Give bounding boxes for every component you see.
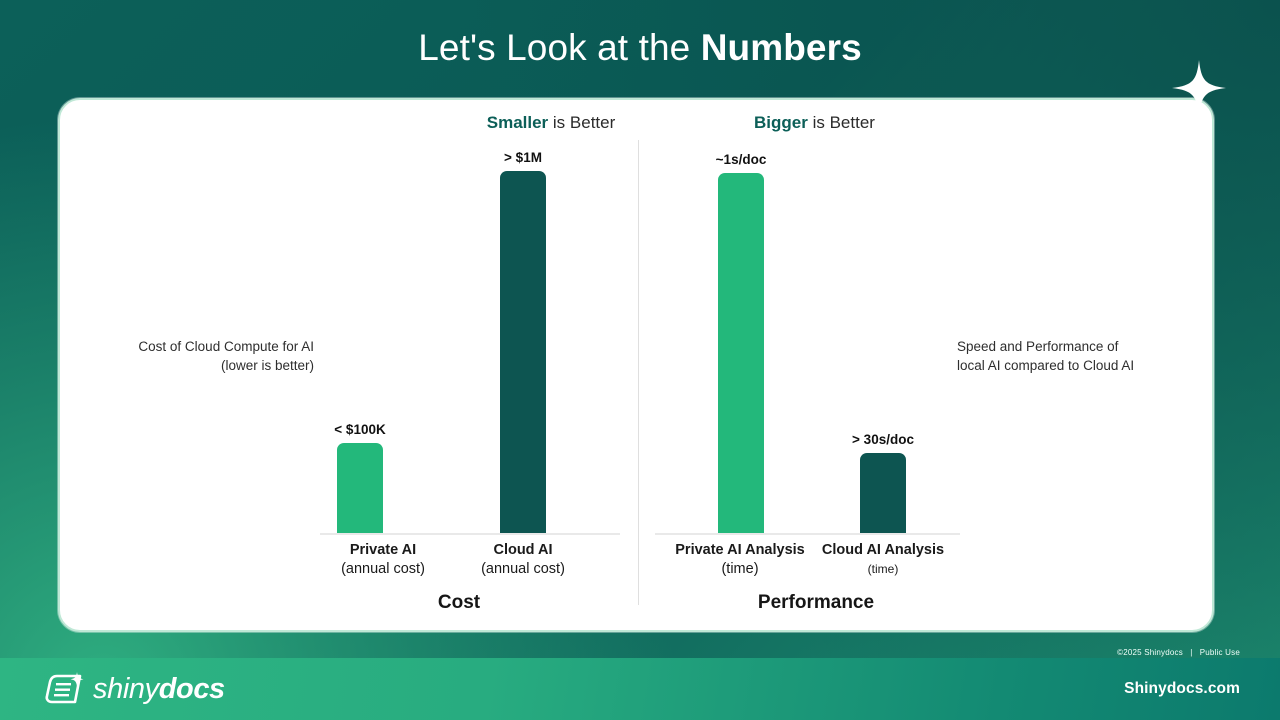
bar-rect-private-ai-cost bbox=[337, 443, 383, 533]
category-cloud-ai-cost-line1: Cloud AI bbox=[423, 541, 623, 560]
section-title-performance: Performance bbox=[716, 592, 916, 614]
category-cloud-ai-analysis-line1: Cloud AI Analysis bbox=[783, 541, 983, 560]
page-title-emphasis: Numbers bbox=[701, 27, 862, 68]
bar-value-cloud-ai-cost: > $1M bbox=[504, 150, 542, 165]
category-label-cloud-ai-cost: Cloud AI (annual cost) bbox=[423, 541, 623, 579]
footer-bar: shinydocs Shinydocs.com bbox=[0, 658, 1280, 720]
bar-value-private-ai-analysis: ~1s/doc bbox=[716, 152, 767, 167]
bar-value-cloud-ai-analysis: > 30s/doc bbox=[852, 432, 914, 447]
bar-value-private-ai-cost: < $100K bbox=[334, 422, 385, 437]
bar-rect-cloud-ai-cost bbox=[500, 171, 546, 533]
section-title-cost: Cost bbox=[359, 592, 559, 614]
header-bigger-is-better: Bigger is Better bbox=[636, 113, 993, 133]
header-smaller-strong: Smaller bbox=[487, 113, 548, 132]
logo-text-docs: docs bbox=[159, 673, 225, 705]
header-smaller-rest: is Better bbox=[548, 113, 615, 132]
performance-annotation: Speed and Performance of local AI compar… bbox=[957, 337, 1187, 375]
logo-text-shiny: shiny bbox=[93, 673, 159, 705]
footer-website-link[interactable]: Shinydocs.com bbox=[1124, 680, 1240, 698]
header-bigger-rest: is Better bbox=[808, 113, 875, 132]
bar-rect-private-ai-analysis bbox=[718, 173, 764, 533]
category-label-cloud-ai-analysis: Cloud AI Analysis (time) bbox=[783, 541, 983, 579]
category-cloud-ai-analysis-line2: (time) bbox=[783, 560, 983, 579]
bar-rect-cloud-ai-analysis bbox=[860, 453, 906, 533]
performance-chart-plot: ~1s/doc > 30s/doc bbox=[655, 150, 960, 535]
shinydocs-logo-text: shinydocs bbox=[93, 673, 225, 706]
shinydocs-document-sparkle-icon bbox=[44, 672, 84, 706]
performance-chart-baseline bbox=[655, 533, 960, 535]
cost-chart-baseline bbox=[320, 533, 620, 535]
chart-divider bbox=[638, 140, 639, 605]
header-bigger-strong: Bigger bbox=[754, 113, 808, 132]
shinydocs-logo[interactable]: shinydocs bbox=[44, 672, 225, 706]
bar-cloud-ai-analysis: > 30s/doc bbox=[860, 432, 906, 533]
cost-annotation: Cost of Cloud Compute for AI (lower is b… bbox=[80, 337, 314, 375]
page-title-plain: Let's Look at the bbox=[418, 27, 700, 68]
cost-chart-plot: < $100K > $1M bbox=[320, 150, 620, 535]
bar-private-ai-cost: < $100K bbox=[337, 422, 383, 533]
bar-private-ai-analysis: ~1s/doc bbox=[718, 152, 764, 533]
bar-cloud-ai-cost: > $1M bbox=[500, 150, 546, 533]
category-cloud-ai-cost-line2: (annual cost) bbox=[423, 560, 623, 579]
copyright-line: ©2025 Shinydocs | Public Use bbox=[1117, 648, 1240, 657]
page-title: Let's Look at the Numbers bbox=[0, 27, 1280, 69]
